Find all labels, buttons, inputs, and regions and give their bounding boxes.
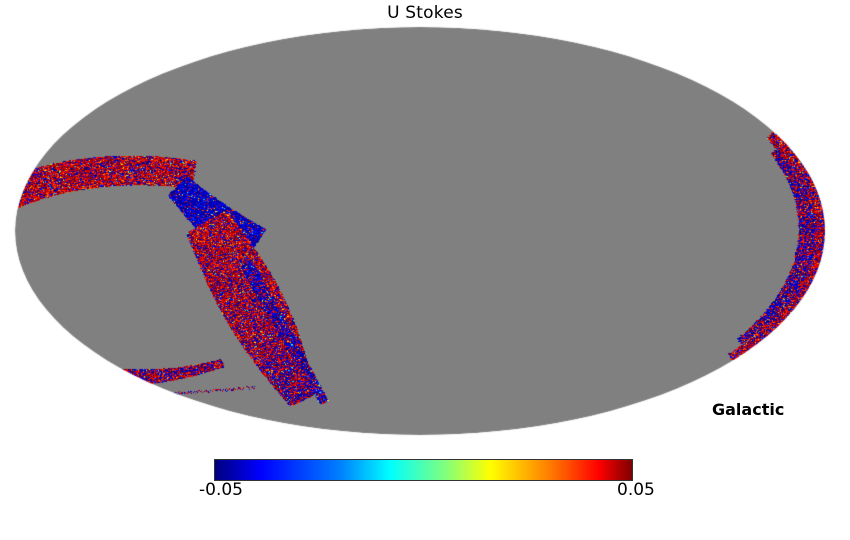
coordinate-system-label: Galactic — [712, 400, 784, 419]
sky-map-figure: U Stokes Galactic -0.05 0.05 — [0, 0, 850, 540]
colorbar-min-label: -0.05 — [199, 480, 243, 500]
colorbar-gradient — [214, 459, 633, 481]
colorbar — [214, 459, 633, 481]
colorbar-max-label: 0.05 — [617, 480, 655, 500]
